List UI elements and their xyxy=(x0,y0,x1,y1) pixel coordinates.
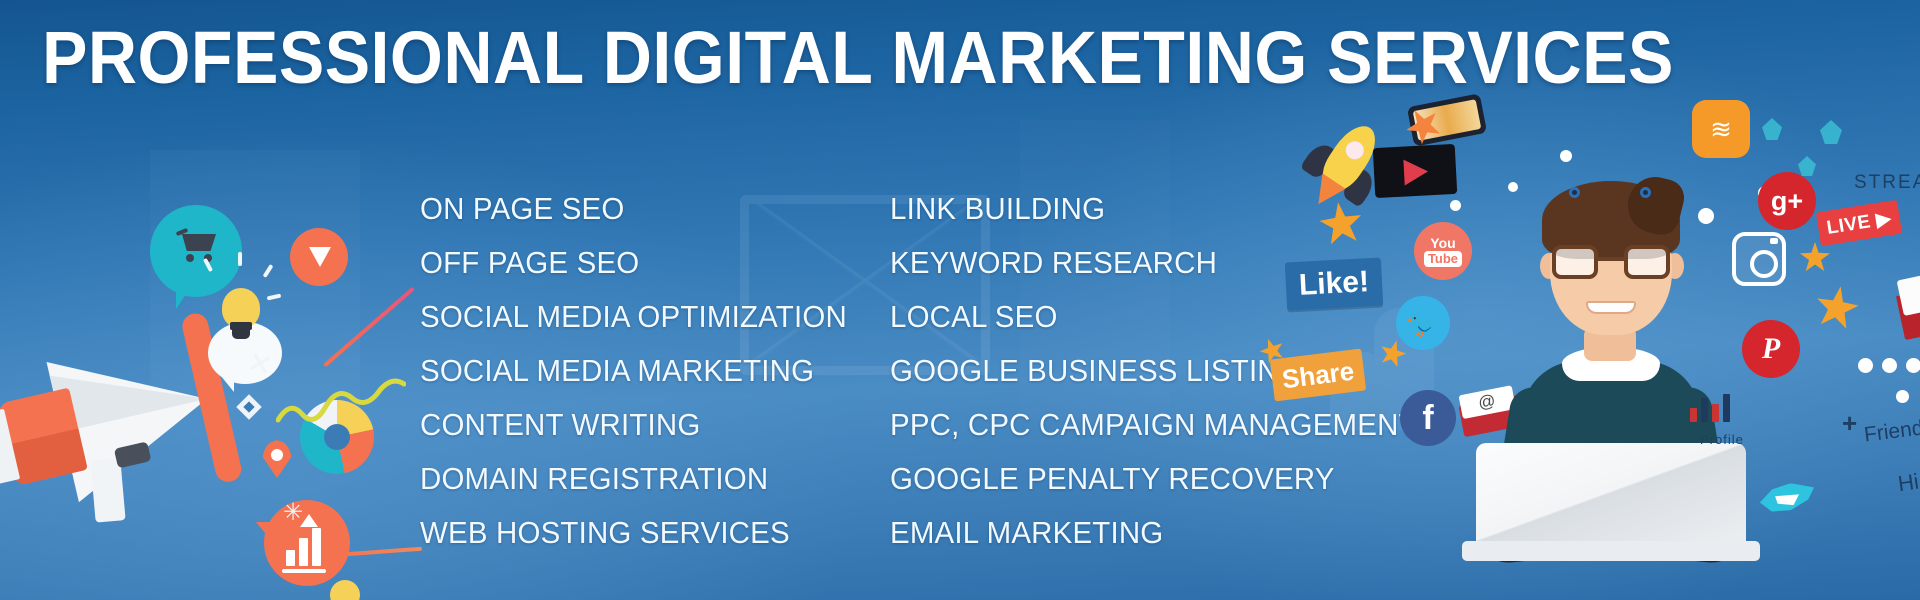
lightbulb-ray-icon xyxy=(263,264,274,278)
youtube-label-bottom: Tube xyxy=(1424,251,1462,267)
left-illustration: ✕ ✳ xyxy=(0,150,420,600)
friend-label: Friend xyxy=(1863,416,1920,447)
dot-icon xyxy=(1906,358,1920,373)
service-item[interactable]: WEB HOSTING SERVICES xyxy=(420,506,867,560)
bar-chart-bar xyxy=(286,550,295,566)
bar-chart-bar xyxy=(299,538,308,566)
teal-shape-icon xyxy=(1762,118,1782,140)
sparkle-icon: ✳ xyxy=(283,498,303,528)
dot-icon xyxy=(1560,150,1572,162)
service-item[interactable]: OFF PAGE SEO xyxy=(420,236,867,290)
lightbulb-ray-icon xyxy=(238,252,242,266)
teal-shape-icon xyxy=(1820,120,1842,144)
right-illustration: You Tube Like! 🐦 Share f @ xyxy=(1260,90,1920,600)
twitter-icon[interactable]: 🐦 xyxy=(1396,296,1450,350)
twitter-bird-icon xyxy=(1757,479,1818,522)
pinterest-icon[interactable]: P xyxy=(1742,320,1800,378)
dot-icon xyxy=(1896,390,1909,403)
services-left-column: ON PAGE SEO OFF PAGE SEO SOCIAL MEDIA OP… xyxy=(420,182,890,560)
lightbulb-icon xyxy=(218,288,262,344)
teal-shape-icon xyxy=(1798,156,1816,176)
page-title: PROFESSIONAL DIGITAL MARKETING SERVICES xyxy=(42,17,1422,99)
dot-icon xyxy=(1882,358,1897,373)
facebook-icon[interactable]: f xyxy=(1400,390,1456,446)
lightbulb-ray-icon xyxy=(267,294,282,301)
yellow-dot-icon xyxy=(330,580,360,600)
hi-label: Hi xyxy=(1896,469,1920,498)
share-badge[interactable]: Share xyxy=(1270,349,1366,402)
service-item[interactable]: SOCIAL MEDIA MARKETING xyxy=(420,344,867,398)
service-item[interactable]: CONTENT WRITING xyxy=(420,398,867,452)
shopping-cart-icon xyxy=(176,230,220,262)
star-icon xyxy=(1813,283,1862,332)
laptop-icon xyxy=(1462,443,1760,561)
person-with-laptop-illustration xyxy=(1470,175,1750,595)
instagram-icon[interactable] xyxy=(1732,232,1786,286)
service-item[interactable]: ON PAGE SEO xyxy=(420,182,867,236)
google-plus-icon[interactable]: g+ xyxy=(1758,172,1816,230)
video-player-icon[interactable] xyxy=(1373,144,1458,198)
stream-label: STREAM xyxy=(1854,172,1920,194)
dot-icon xyxy=(1858,358,1873,373)
squiggle-line-icon xyxy=(276,376,406,428)
dot-icon xyxy=(1450,200,1461,211)
service-item[interactable]: DOMAIN REGISTRATION xyxy=(420,452,867,506)
bar-chart-baseline xyxy=(282,569,326,573)
youtube-icon[interactable]: You Tube xyxy=(1414,222,1472,280)
rss-feed-icon[interactable]: ≋ xyxy=(1692,100,1750,158)
play-button-icon xyxy=(290,228,348,286)
bar-chart-bar xyxy=(312,528,321,566)
marketing-banner: PROFESSIONAL DIGITAL MARKETING SERVICES xyxy=(0,0,1920,600)
diamond-dot-icon xyxy=(236,394,261,419)
analytics-bar-chart-icon xyxy=(1690,390,1730,426)
mail-envelope-icon[interactable]: @ xyxy=(1893,264,1920,341)
profile-label: Profile xyxy=(1700,432,1744,447)
plus-sign-label: + xyxy=(1842,408,1857,439)
service-item[interactable]: SOCIAL MEDIA OPTIMIZATION xyxy=(420,290,867,344)
star-icon xyxy=(1800,242,1830,272)
location-pin-icon xyxy=(262,440,292,478)
like-badge[interactable]: Like! xyxy=(1285,258,1383,311)
live-stream-badge[interactable]: LIVE ▶ xyxy=(1816,200,1902,246)
eyeglasses-icon xyxy=(1552,245,1670,279)
youtube-label-top: You xyxy=(1430,235,1455,251)
accent-line-pink xyxy=(323,287,415,367)
